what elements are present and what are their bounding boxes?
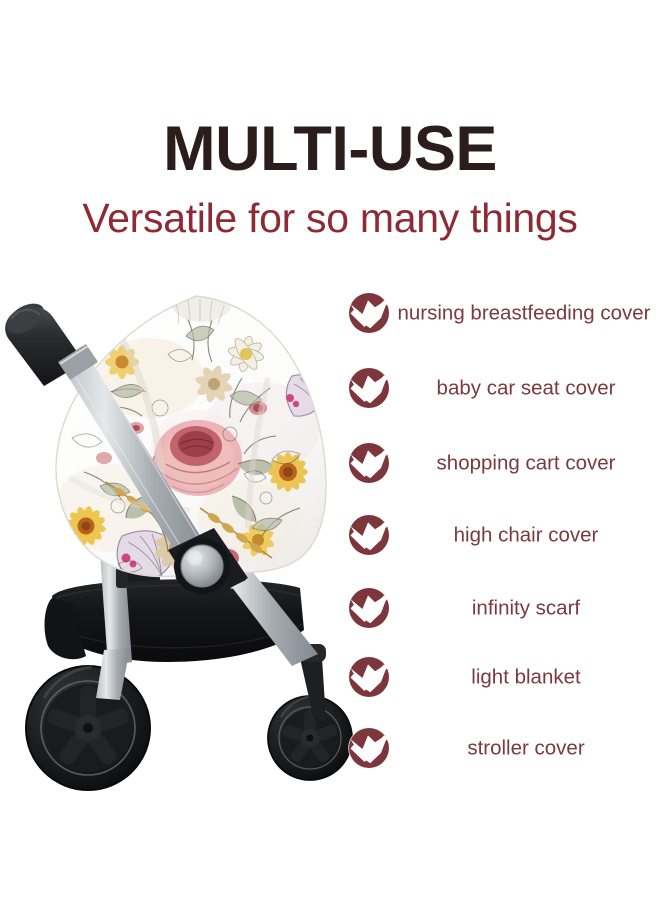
stroller-with-floral-canopy-photo [0, 258, 370, 818]
page-title: MULTI-USE [0, 118, 660, 181]
check-circle-icon [348, 367, 390, 409]
list-item-label: infinity scarf [392, 598, 660, 621]
page-subtitle: Versatile for so many things [0, 198, 660, 239]
check-circle-icon [348, 442, 390, 484]
list-item-label: shopping cart cover [392, 453, 660, 476]
list-item: baby car seat cover [330, 367, 660, 411]
check-circle-icon [348, 514, 390, 556]
benefits-list: nursing breastfeeding cover baby car sea… [330, 292, 660, 802]
check-circle-icon [348, 587, 390, 629]
list-item-label: light blanket [392, 667, 660, 690]
list-item-label: stroller cover [392, 738, 660, 761]
list-item: stroller cover [330, 727, 660, 771]
stroller-rear-wheel [26, 666, 150, 790]
list-item: infinity scarf [330, 587, 660, 631]
list-item-label: high chair cover [392, 525, 660, 548]
list-item: shopping cart cover [330, 442, 660, 486]
list-item-label: baby car seat cover [392, 378, 660, 401]
check-circle-icon [348, 656, 390, 698]
check-circle-icon [348, 727, 390, 769]
product-feature-graphic: MULTI-USE Versatile for so many things [0, 0, 660, 904]
list-item: nursing breastfeeding cover [330, 292, 660, 336]
check-circle-icon [348, 292, 390, 334]
list-item: high chair cover [330, 514, 660, 558]
floral-mauve-bloom [286, 375, 326, 416]
list-item: light blanket [330, 656, 660, 700]
list-item-label: nursing breastfeeding cover [388, 303, 660, 326]
